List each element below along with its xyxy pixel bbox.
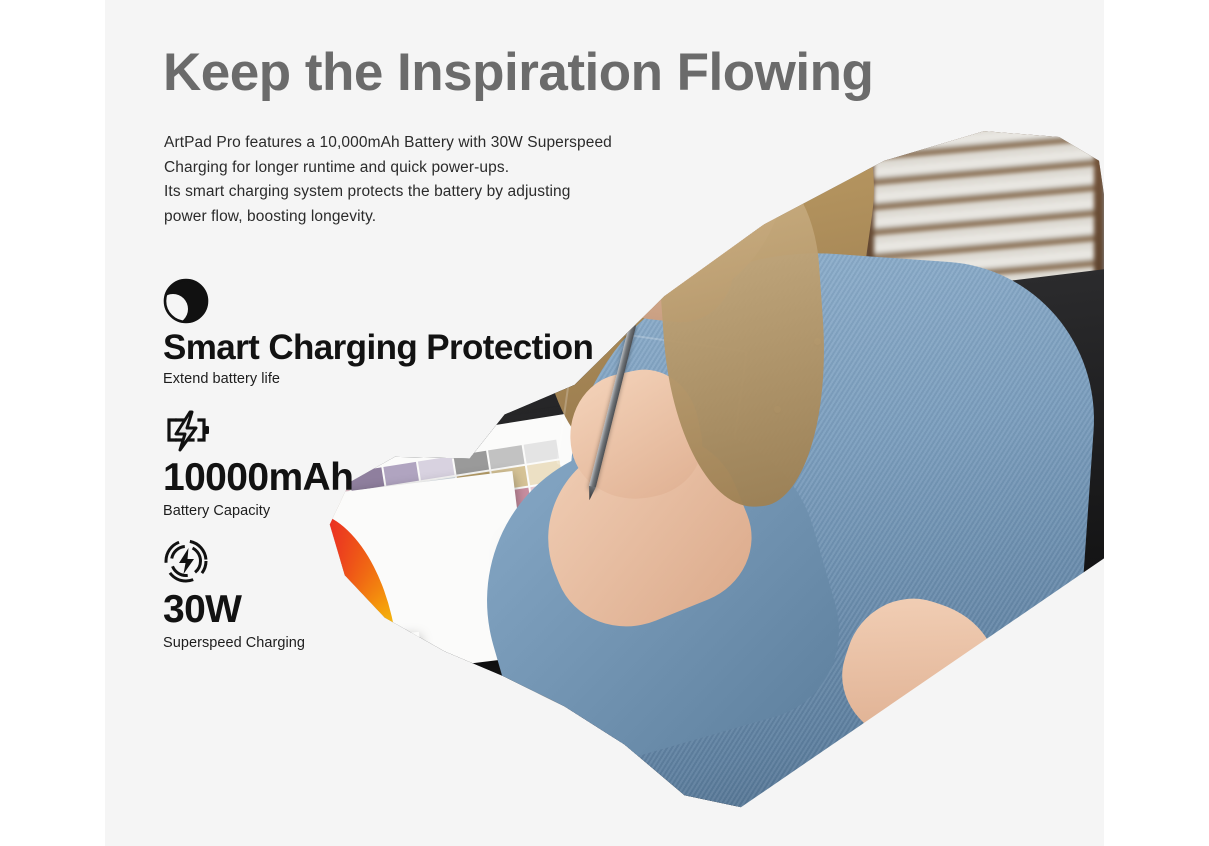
brown-swatch <box>214 658 255 683</box>
warm-swatch <box>351 757 408 840</box>
cmyk-swatches <box>240 671 359 739</box>
brown-swatch <box>253 653 294 678</box>
feature-title: 30W <box>163 590 305 631</box>
warm-swatches <box>301 746 506 845</box>
eye-right <box>707 188 719 196</box>
eyebrow-left <box>639 157 678 173</box>
warm-palette-sheet <box>239 712 551 846</box>
feature-title: Smart Charging Protection <box>163 330 593 367</box>
feature-subtitle: Extend battery life <box>163 371 593 387</box>
crescent-shield-icon <box>163 278 593 324</box>
body-line: Charging for longer runtime and quick po… <box>164 156 612 181</box>
feature-title: 10000mAh <box>163 458 353 499</box>
warm-swatch <box>301 762 358 845</box>
cmyk-swatch <box>297 673 331 734</box>
cmyk-sheet <box>160 632 430 781</box>
eyebrow-right <box>704 160 742 174</box>
brown-swatch <box>330 644 371 669</box>
teal-gradient-card <box>145 711 255 787</box>
battery-bolt-icon <box>163 408 353 452</box>
page-title: Keep the Inspiration Flowing <box>163 42 873 103</box>
eye-left <box>642 186 654 194</box>
warm-swatch <box>400 751 457 834</box>
body-line: Its smart charging system protects the b… <box>164 180 612 205</box>
feature-battery-capacity: 10000mAh Battery Capacity <box>163 408 353 519</box>
brown-swatch <box>291 649 332 674</box>
cmyk-swatch <box>269 676 303 737</box>
cmyk-swatch <box>240 678 274 739</box>
body-line: power flow, boosting longevity. <box>164 205 612 230</box>
lips <box>653 237 680 251</box>
feature-smart-charging-protection: Smart Charging Protection Extend battery… <box>163 278 593 387</box>
cmyk-swatch <box>326 671 360 732</box>
body-copy: ArtPad Pro features a 10,000mAh Battery … <box>164 131 612 229</box>
feature-subtitle: Superspeed Charging <box>163 635 305 651</box>
content-panel: Keep the Inspiration Flowing ArtPad Pro … <box>105 0 1104 846</box>
feature-subtitle: Battery Capacity <box>163 503 353 519</box>
fast-charge-ring-icon <box>163 538 305 584</box>
body-line: ArtPad Pro features a 10,000mAh Battery … <box>164 131 612 156</box>
product-feature-banner: Keep the Inspiration Flowing ArtPad Pro … <box>0 0 1209 846</box>
warm-swatch <box>449 746 506 829</box>
feature-superspeed-charging: 30W Superspeed Charging <box>163 538 305 651</box>
